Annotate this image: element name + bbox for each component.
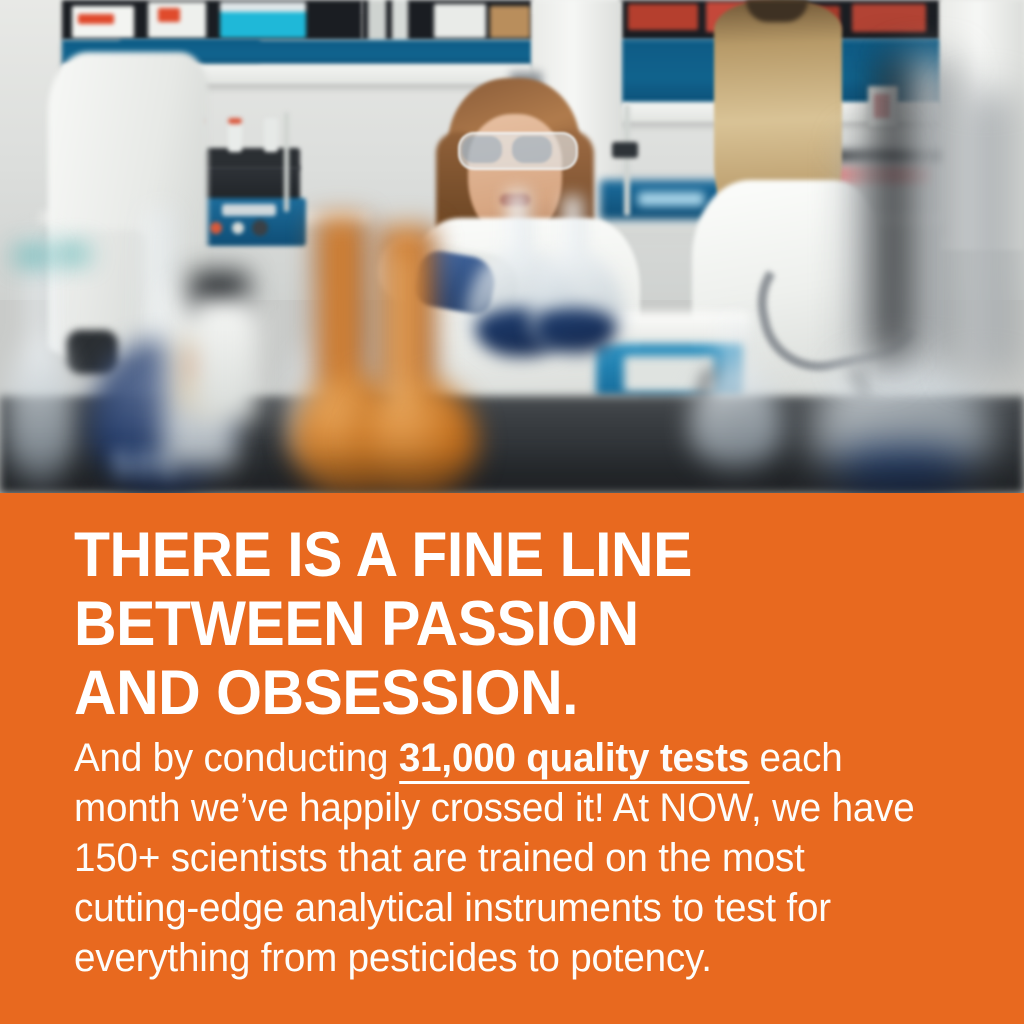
tube-cap-2 (228, 118, 242, 124)
cabinet-open-mid (362, 0, 532, 40)
fg-amber-highlight (392, 250, 406, 400)
fg-bench-edge-shadow (0, 470, 1024, 493)
body-text-before: And by conducting (74, 736, 399, 780)
fg-bottle-white (194, 300, 256, 420)
lab-photo: 500 (0, 0, 1024, 493)
orange-content-panel: THERE IS A FINE LINE BETWEEN PASSION AND… (0, 493, 1024, 1024)
fg-teal-cap-a (16, 250, 50, 262)
fg-erlenmeyer-center-2 (528, 196, 624, 358)
stat-quality-tests: 31,000 quality tests (399, 736, 749, 784)
fg-teal-cap-b (58, 248, 88, 260)
fg-cylinder-right-b (960, 92, 1010, 372)
instrument-dial-b (232, 222, 244, 234)
stand-rod-left (284, 112, 289, 212)
fg-cylinder-right-a (900, 60, 956, 360)
fg-shadow-right (880, 56, 906, 356)
fg-pipette-left (8, 236, 74, 486)
tube-holder-4 (264, 118, 278, 152)
page-title: THERE IS A FINE LINE BETWEEN PASSION AND… (74, 521, 897, 728)
instrument-dial-c (252, 220, 268, 236)
cabinet-open-left (62, 0, 362, 40)
fg-erlenmeyer-far-right (690, 320, 782, 470)
goggle-lens-left (462, 136, 502, 163)
goggle-lens-right (512, 136, 552, 163)
social-graphic-canvas: 500 (0, 0, 1024, 1024)
body-paragraph: And by conducting 31,000 quality tests e… (74, 733, 923, 983)
